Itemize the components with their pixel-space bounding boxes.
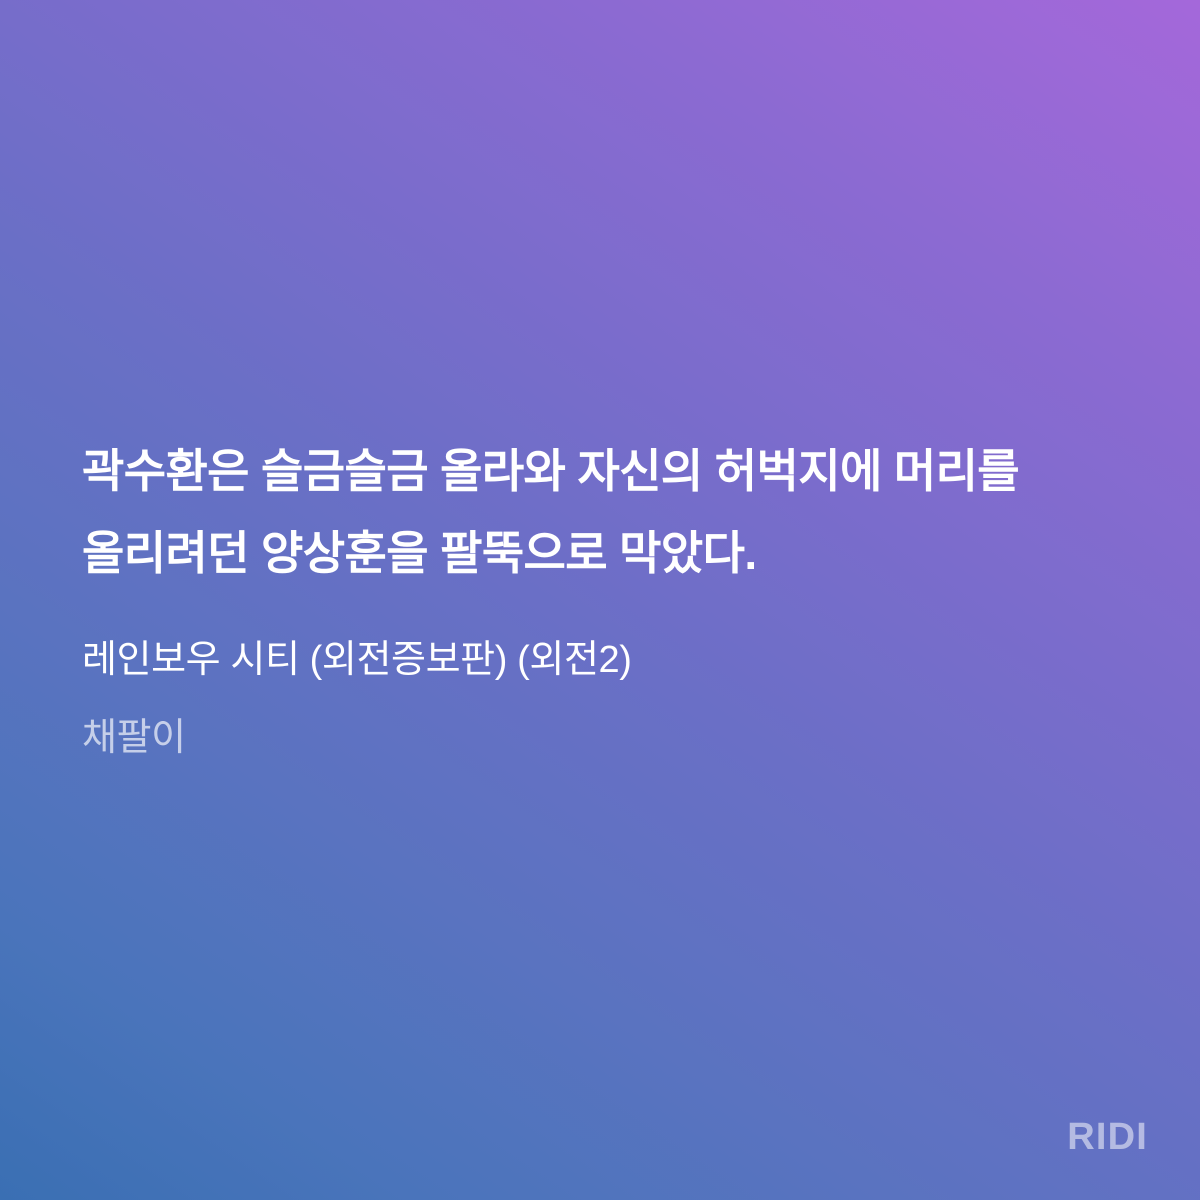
book-author: 채팔이 — [82, 710, 1122, 766]
card-content: 곽수환은 슬금슬금 올라와 자신의 허벅지에 머리를 올리려던 양상훈을 팔뚝으… — [82, 430, 1122, 766]
book-meta: 레인보우 시티 (외전증보판) (외전2) 채팔이 — [82, 632, 1122, 766]
book-title: 레인보우 시티 (외전증보판) (외전2) — [82, 632, 1122, 688]
ridi-logo: RIDI — [1067, 1118, 1148, 1156]
quote-text: 곽수환은 슬금슬금 올라와 자신의 허벅지에 머리를 올리려던 양상훈을 팔뚝으… — [82, 430, 1117, 594]
quote-share-card: 곽수환은 슬금슬금 올라와 자신의 허벅지에 머리를 올리려던 양상훈을 팔뚝으… — [0, 0, 1200, 1200]
